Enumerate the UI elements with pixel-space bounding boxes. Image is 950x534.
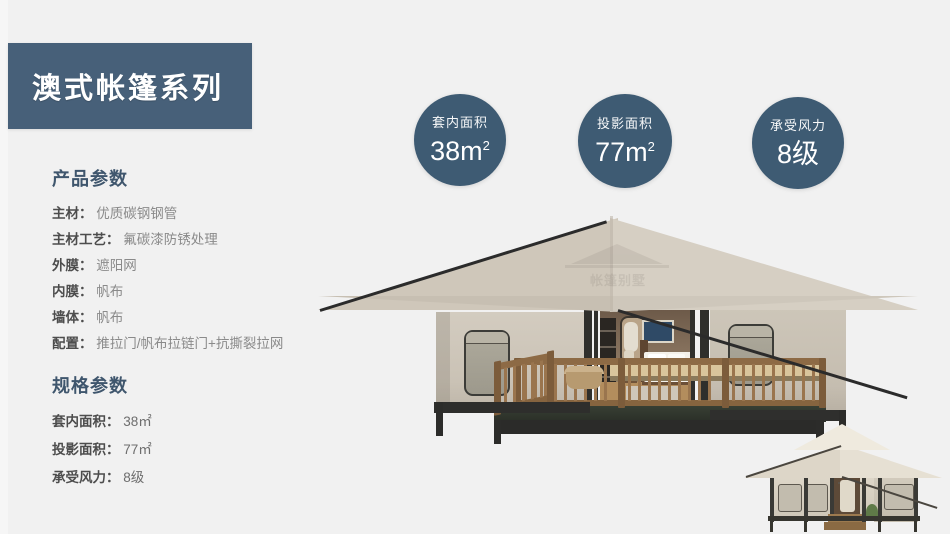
thumb-support-leg	[878, 519, 881, 532]
param-label: 主材：	[52, 206, 93, 221]
thumb-frame-post	[878, 474, 882, 522]
railing-post	[618, 358, 625, 408]
thumb-tent-door	[840, 480, 855, 512]
param-value: 帆布	[96, 284, 123, 299]
param-row: 套内面积： 38㎡	[52, 408, 152, 436]
stat-number: 8级	[777, 139, 819, 169]
param-row: 配置： 推拉门/帆布拉链门+抗撕裂拉网	[52, 331, 283, 357]
thumb-support-leg	[804, 519, 807, 532]
param-label: 内膜：	[52, 284, 93, 299]
main-tent-illustration: 帐篷别墅	[318, 196, 918, 446]
param-label: 外膜：	[52, 258, 93, 273]
stat-unit: m	[460, 136, 483, 166]
shelf-line	[600, 346, 616, 348]
param-value: 帆布	[96, 310, 123, 325]
param-row: 投影面积： 77㎡	[52, 436, 152, 464]
param-label: 主材工艺：	[52, 232, 120, 247]
param-row: 外膜： 遮阳网	[52, 253, 283, 279]
railing-post	[722, 358, 729, 408]
shelf-line	[600, 330, 616, 332]
window-shade	[730, 326, 772, 338]
tent-support-leg	[494, 420, 501, 444]
railing-post	[547, 350, 554, 405]
stat-caption: 套内面积	[432, 116, 488, 129]
stat-value: 38m2	[430, 138, 490, 165]
stat-value: 77m2	[595, 139, 655, 166]
param-row: 墙体： 帆布	[52, 305, 283, 331]
param-value: 推拉门/帆布拉链门+抗撕裂拉网	[96, 336, 283, 351]
thumb-frame-post	[914, 476, 918, 520]
secondary-tent-thumbnail	[742, 418, 950, 534]
param-label: 配置：	[52, 336, 93, 351]
product-parameters-section: 产品参数 主材： 优质碳钢钢管 主材工艺： 氟碳漆防锈处理 外膜： 遮阳网 内膜…	[52, 165, 283, 357]
stat-number: 38	[430, 136, 460, 166]
thumb-base-rail	[768, 516, 920, 521]
thumb-roof-peak	[794, 424, 890, 450]
stat-caption: 投影面积	[597, 117, 653, 130]
railing-post	[819, 358, 826, 408]
param-label: 墙体：	[52, 310, 93, 325]
tent-base-rail	[434, 402, 590, 413]
param-value: 遮阳网	[96, 258, 137, 273]
stat-circle-projected-area: 投影面积 77m2	[578, 94, 672, 188]
param-row: 内膜： 帆布	[52, 279, 283, 305]
thumb-tent-window	[838, 482, 840, 484]
param-row: 承受风力： 8级	[52, 464, 152, 492]
param-label: 承受风力：	[52, 470, 120, 485]
tent-canopy-right	[610, 296, 918, 312]
stat-unit-sup: 2	[648, 139, 655, 154]
param-label: 套内面积：	[52, 414, 120, 429]
stat-circle-wind-resistance: 承受风力 8级	[752, 97, 844, 189]
param-value: 8级	[123, 470, 144, 485]
tent-wall-shadow	[436, 312, 450, 412]
slide-canvas: 澳式帐篷系列 产品参数 主材： 优质碳钢钢管 主材工艺： 氟碳漆防锈处理 外膜：…	[0, 0, 950, 534]
left-edge-strip	[0, 0, 8, 534]
param-value: 氟碳漆防锈处理	[123, 232, 218, 247]
tent-roof-ridge	[610, 216, 613, 311]
stat-circle-indoor-area: 套内面积 38m2	[414, 94, 506, 186]
param-value: 优质碳钢钢管	[96, 206, 177, 221]
stat-caption: 承受风力	[770, 119, 826, 132]
tent-support-leg	[436, 402, 443, 436]
spec-parameters-heading: 规格参数	[52, 372, 152, 398]
param-value: 38㎡	[123, 414, 152, 429]
stat-value: 8级	[777, 141, 819, 168]
param-row: 主材： 优质碳钢钢管	[52, 201, 283, 227]
deck-railing-front	[514, 358, 826, 408]
param-row: 主材工艺： 氟碳漆防锈处理	[52, 227, 283, 253]
thumb-support-leg	[770, 519, 773, 532]
stat-number: 77	[595, 137, 625, 167]
thumb-support-leg	[914, 519, 917, 532]
window-shade	[466, 332, 508, 344]
stat-unit-sup: 2	[483, 138, 490, 153]
param-value: 77㎡	[123, 442, 152, 457]
thumb-tent-window	[778, 484, 802, 512]
spec-parameters-section: 规格参数 套内面积： 38㎡ 投影面积： 77㎡ 承受风力： 8级	[52, 372, 152, 492]
deck-basket	[566, 372, 602, 389]
title-banner: 澳式帐篷系列	[8, 43, 252, 129]
stat-unit: m	[625, 137, 648, 167]
param-label: 投影面积：	[52, 442, 120, 457]
interior-mirror	[624, 322, 638, 352]
thumb-entry-step	[824, 522, 866, 530]
page-title: 澳式帐篷系列	[32, 65, 224, 107]
product-parameters-heading: 产品参数	[52, 165, 283, 191]
